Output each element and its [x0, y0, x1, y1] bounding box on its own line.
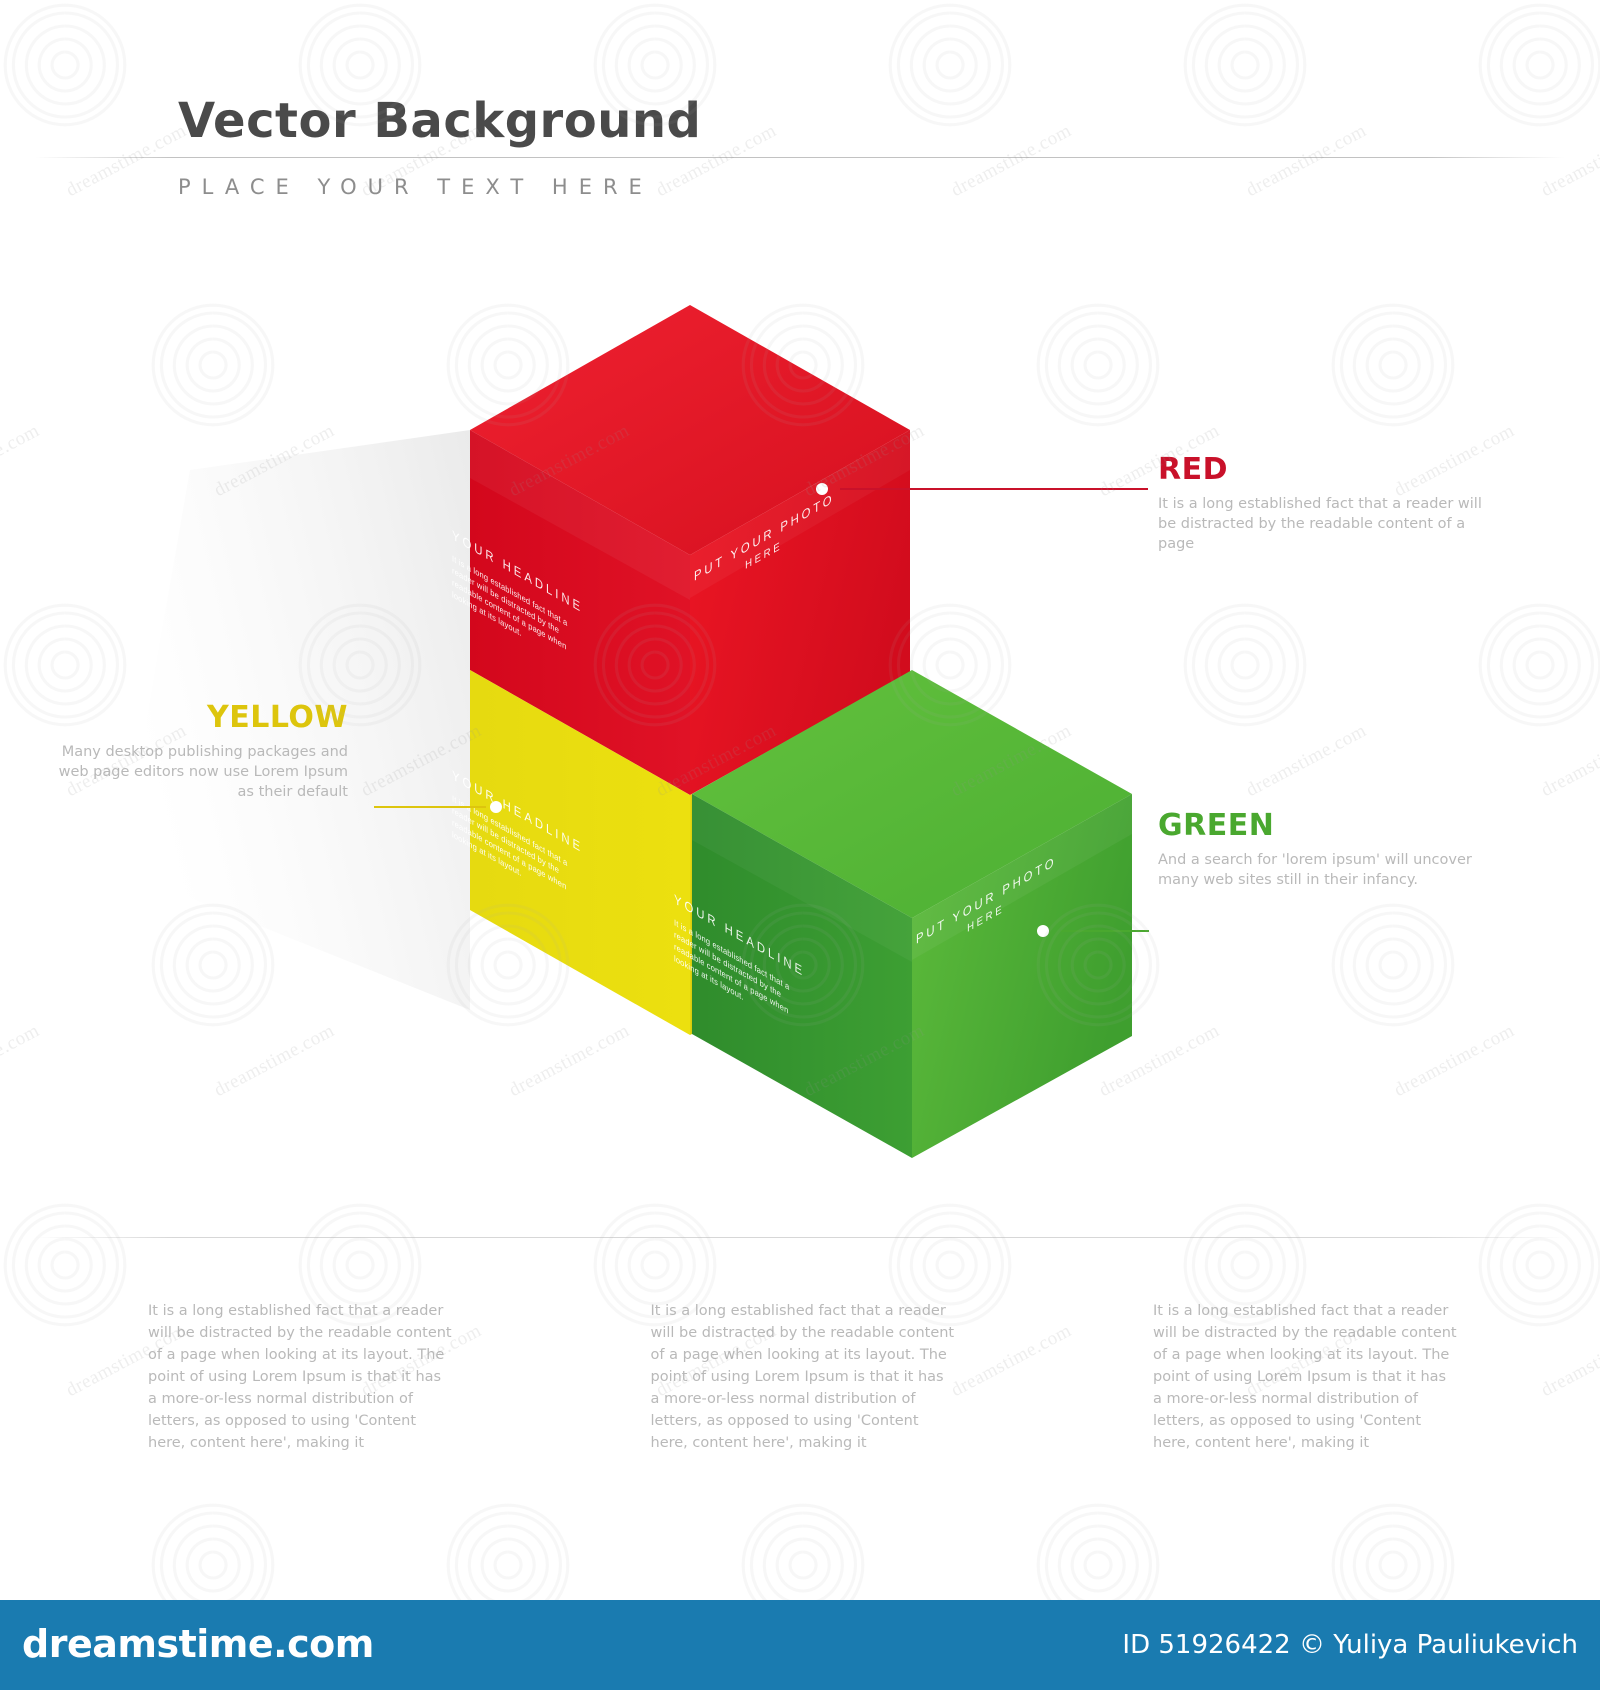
- bottom-column-1: It is a long established fact that a rea…: [148, 1300, 453, 1454]
- page-subtitle: PLACE YOUR TEXT HERE: [178, 175, 653, 199]
- red-callout-leader-line: [840, 488, 1148, 490]
- yellow-callout-body: Many desktop publishing packages and web…: [48, 742, 348, 802]
- yellow-callout-dot[interactable]: [490, 801, 502, 813]
- bottom-column-3: It is a long established fact that a rea…: [1153, 1300, 1458, 1454]
- yellow-callout-title: YELLOW: [48, 700, 348, 735]
- page-title: Vector Background: [178, 93, 701, 149]
- header-divider: [35, 157, 1565, 158]
- red-callout-body: It is a long established fact that a rea…: [1158, 494, 1488, 554]
- red-callout-title: RED: [1158, 452, 1488, 487]
- dreamstime-logo: dreamstime.com: [22, 1622, 374, 1666]
- lower-divider: [35, 1237, 1565, 1238]
- yellow-callout[interactable]: YELLOW Many desktop publishing packages …: [48, 700, 348, 802]
- bottom-column-2: It is a long established fact that a rea…: [651, 1300, 956, 1454]
- footer-bar: dreamstime.com ID 51926422 © Yuliya Paul…: [0, 1600, 1600, 1690]
- green-callout-body: And a search for 'lorem ipsum' will unco…: [1158, 850, 1488, 890]
- yellow-cube-right-face: [690, 794, 692, 1035]
- green-callout-title: GREEN: [1158, 808, 1488, 843]
- red-callout-dot[interactable]: [816, 483, 828, 495]
- footer-credit: ID 51926422 © Yuliya Pauliukevich: [1122, 1630, 1578, 1660]
- red-callout[interactable]: RED It is a long established fact that a…: [1158, 452, 1488, 554]
- green-callout-leader-line: [1061, 930, 1149, 932]
- bottom-text-columns: It is a long established fact that a rea…: [148, 1300, 1458, 1454]
- green-callout-dot[interactable]: [1037, 925, 1049, 937]
- green-callout[interactable]: GREEN And a search for 'lorem ipsum' wil…: [1158, 808, 1488, 890]
- yellow-callout-leader-line: [374, 806, 486, 808]
- poster-canvas: Vector Background PLACE YOUR TEXT HERE: [0, 0, 1600, 1690]
